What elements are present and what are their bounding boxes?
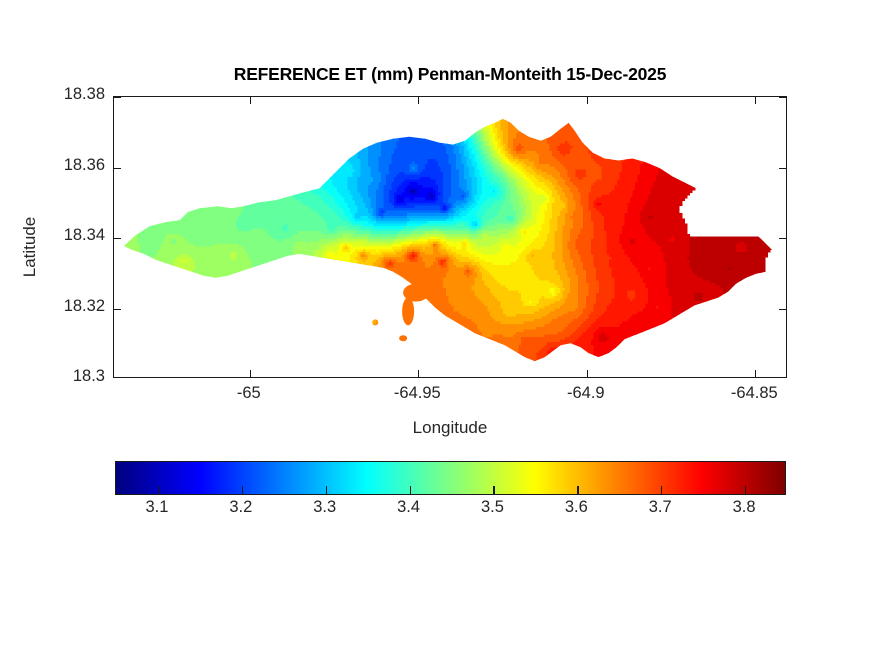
colorbar-tick-label: 3.6 bbox=[565, 498, 588, 517]
et-heatmap-field bbox=[114, 97, 786, 377]
x-axis-tick-label: -64.85 bbox=[731, 384, 778, 403]
y-axis-tick bbox=[779, 97, 786, 98]
page-title: REFERENCE ET (mm) Penman-Monteith 15-Dec… bbox=[113, 64, 787, 85]
y-axis-tick bbox=[114, 238, 121, 239]
x-axis-tick bbox=[587, 97, 588, 104]
colorbar-tick-label: 3.8 bbox=[733, 498, 756, 517]
x-axis-tick bbox=[418, 97, 419, 104]
colorbar-tick bbox=[577, 486, 578, 494]
y-axis-label: Latitude bbox=[20, 157, 40, 337]
colorbar[interactable] bbox=[115, 461, 786, 495]
x-axis-tick bbox=[587, 370, 588, 377]
x-axis-tick bbox=[755, 370, 756, 377]
colorbar-tick bbox=[326, 486, 327, 494]
y-axis-tick bbox=[779, 168, 786, 169]
colorbar-tick bbox=[158, 486, 159, 494]
map-axes[interactable] bbox=[113, 96, 787, 378]
y-axis-tick bbox=[779, 238, 786, 239]
x-axis-tick-label: -64.9 bbox=[567, 384, 605, 403]
colorbar-tick-label: 3.1 bbox=[145, 498, 168, 517]
y-axis-tick bbox=[779, 309, 786, 310]
x-axis-tick bbox=[755, 97, 756, 104]
colorbar-tick bbox=[745, 486, 746, 494]
colorbar-tick bbox=[661, 486, 662, 494]
x-axis-tick bbox=[250, 370, 251, 377]
figure-canvas: REFERENCE ET (mm) Penman-Monteith 15-Dec… bbox=[0, 0, 875, 656]
colorbar-tick-label: 3.7 bbox=[649, 498, 672, 517]
colorbar-gradient bbox=[116, 462, 785, 494]
y-axis-tick bbox=[114, 97, 121, 98]
colorbar-bar bbox=[115, 461, 786, 495]
x-axis-tick-label: -65 bbox=[237, 384, 261, 403]
x-axis-tick bbox=[418, 370, 419, 377]
colorbar-tick bbox=[410, 486, 411, 494]
x-axis-label: Longitude bbox=[113, 418, 787, 438]
colorbar-tick-label: 3.5 bbox=[481, 498, 504, 517]
colorbar-tick bbox=[242, 486, 243, 494]
x-axis-tick-label: -64.95 bbox=[394, 384, 441, 403]
colorbar-tick-label: 3.4 bbox=[397, 498, 420, 517]
colorbar-tick bbox=[493, 486, 494, 494]
colorbar-tick-label: 3.3 bbox=[313, 498, 336, 517]
colorbar-tick-label: 3.2 bbox=[229, 498, 252, 517]
y-axis-tick bbox=[114, 309, 121, 310]
y-axis-tick bbox=[114, 168, 121, 169]
x-axis-tick bbox=[250, 97, 251, 104]
